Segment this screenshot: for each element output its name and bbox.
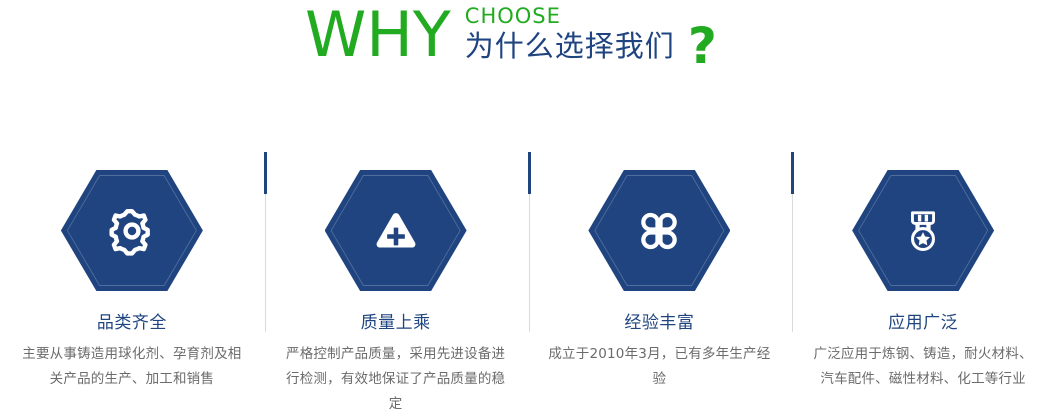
header-choose-text: CHOOSE bbox=[465, 4, 675, 28]
feature-card: 品类齐全 主要从事铸造用球化剂、孕育剂及相关产品的生产、加工和销售 bbox=[0, 150, 264, 416]
divider-blue-segment bbox=[528, 152, 531, 194]
divider-blue-segment bbox=[791, 152, 794, 194]
feature-card: 经验丰富 成立于2010年3月，已有多年生产经验 bbox=[528, 150, 792, 416]
section-header: WHY CHOOSE 为什么选择我们 ? bbox=[0, 0, 1055, 95]
header-text-group: CHOOSE 为什么选择我们 bbox=[465, 4, 675, 63]
card-title: 经验丰富 bbox=[528, 312, 792, 334]
feature-card: 质量上乘 严格控制产品质量，采用先进设备进行检测，有效地保证了产品质量的稳定 bbox=[264, 150, 528, 416]
medal-icon bbox=[896, 204, 950, 258]
gear-icon bbox=[105, 204, 159, 258]
card-description: 严格控制产品质量，采用先进设备进行检测，有效地保证了产品质量的稳定 bbox=[264, 342, 528, 417]
card-description: 成立于2010年3月，已有多年生产经验 bbox=[528, 342, 792, 392]
header-why-text: WHY bbox=[305, 2, 451, 68]
feature-cards-row: 品类齐全 主要从事铸造用球化剂、孕育剂及相关产品的生产、加工和销售 质量上乘 严… bbox=[0, 150, 1055, 416]
hexagon-badge bbox=[588, 170, 730, 291]
divider-blue-segment bbox=[264, 152, 267, 194]
hexagon-badge bbox=[325, 170, 467, 291]
clover-icon bbox=[632, 204, 686, 258]
header-chinese-title: 为什么选择我们 bbox=[465, 29, 675, 63]
hexagon-badge bbox=[852, 170, 994, 291]
card-divider bbox=[528, 152, 531, 332]
feature-card: 应用广泛 广泛应用于炼钢、铸造，耐火材料、汽车配件、磁性材料、化工等行业 bbox=[791, 150, 1055, 416]
card-title: 品类齐全 bbox=[0, 312, 264, 334]
triangle-plus-icon bbox=[369, 204, 423, 258]
card-title: 应用广泛 bbox=[791, 312, 1055, 334]
header-question-mark: ? bbox=[688, 20, 717, 72]
card-description: 广泛应用于炼钢、铸造，耐火材料、汽车配件、磁性材料、化工等行业 bbox=[791, 342, 1055, 392]
card-divider bbox=[264, 152, 267, 332]
card-divider bbox=[791, 152, 794, 332]
card-title: 质量上乘 bbox=[264, 312, 528, 334]
header-inner: WHY CHOOSE 为什么选择我们 ? bbox=[305, 2, 717, 72]
card-description: 主要从事铸造用球化剂、孕育剂及相关产品的生产、加工和销售 bbox=[0, 342, 264, 392]
hexagon-badge bbox=[61, 170, 203, 291]
